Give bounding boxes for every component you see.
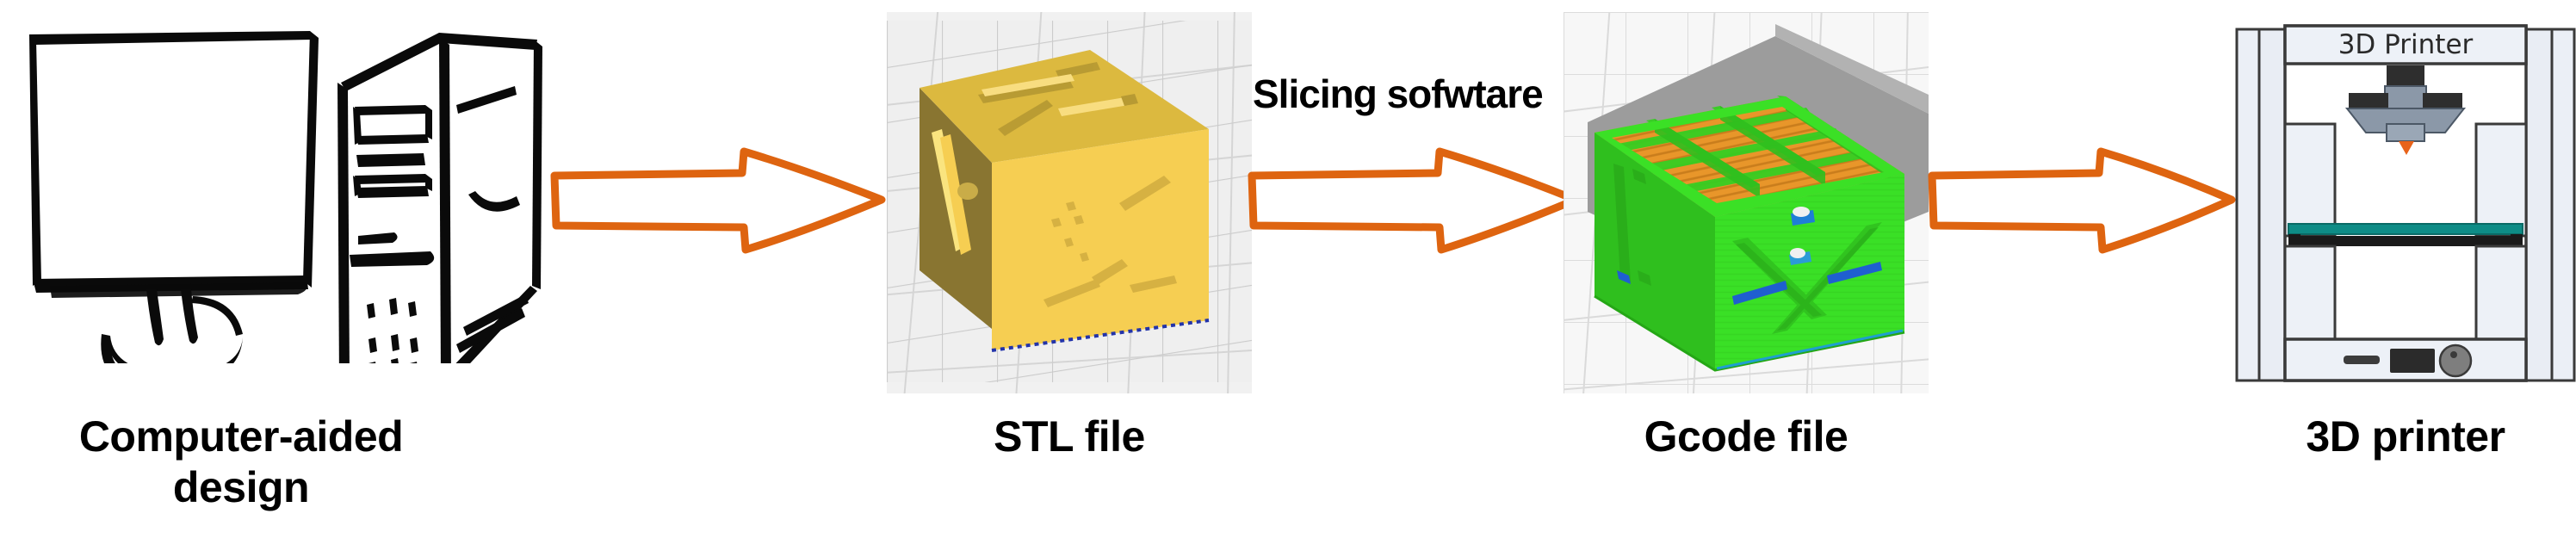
- sd-card-slot-icon: [2344, 356, 2380, 364]
- stage-label-stl: STL file: [887, 412, 1252, 462]
- stl-cube-render-icon: [887, 12, 1252, 393]
- arrow-stl-to-gcode: [1247, 145, 1581, 257]
- stl-file-viewport: [887, 12, 1252, 393]
- control-knob: [2440, 345, 2471, 376]
- printer-display: [2390, 349, 2435, 373]
- fdm-printer-icon: 3D Printer: [2233, 7, 2576, 394]
- gcode-file-viewport: [1564, 12, 1929, 393]
- arrow-cad-to-stl: [549, 145, 887, 257]
- stage-label-cad: Computer-aided design: [0, 412, 482, 513]
- computer-aided-design-sketch-icon: [9, 2, 560, 363]
- printer-banner-text: 3D Printer: [2338, 29, 2474, 60]
- workflow-diagram: Slicing sofwtare: [0, 0, 2576, 557]
- gcode-sliced-render-icon: [1564, 12, 1929, 393]
- stage-label-gcode: Gcode file: [1564, 412, 1929, 462]
- stage-label-printer: 3D printer: [2233, 412, 2576, 462]
- arrow-gcode-to-printer: [1927, 145, 2237, 257]
- print-bed: [2288, 224, 2523, 234]
